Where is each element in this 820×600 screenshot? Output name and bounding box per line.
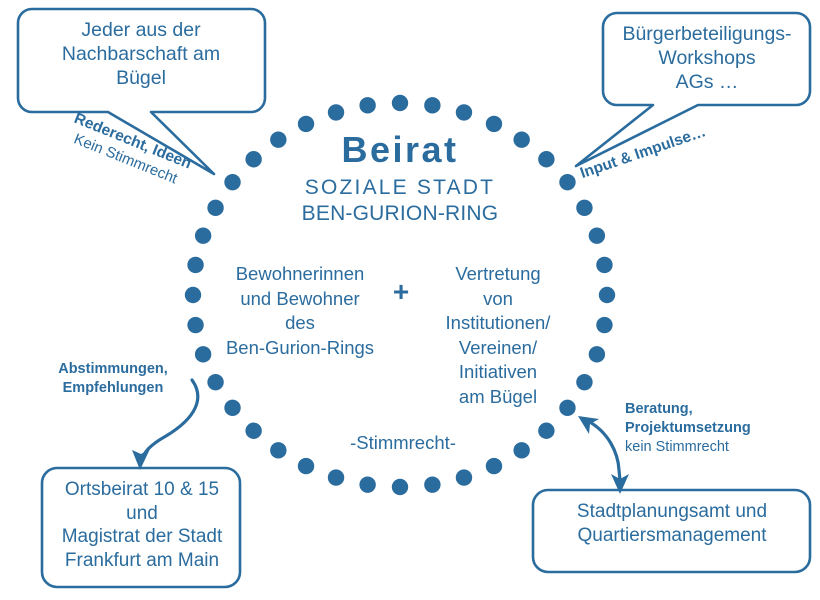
box-bottom-right-text: Stadtplanungsamt und Quartiersmanagement xyxy=(538,500,806,547)
arrow-label-beratung-line1: Beratung, xyxy=(625,400,795,419)
diagram-canvas: Jeder aus der Nachbarschaft am Bügel Red… xyxy=(0,0,820,600)
ring-dot xyxy=(270,442,286,458)
ring-dot xyxy=(486,458,502,474)
ring-dot xyxy=(224,174,240,190)
ring-dot xyxy=(187,257,203,273)
ring-dot xyxy=(392,95,408,111)
ring-dot xyxy=(559,174,575,190)
ring-dot xyxy=(224,400,240,416)
ring-dot xyxy=(187,317,203,333)
ring-dot xyxy=(599,287,615,303)
ring-column-left: Bewohnerinnen und Bewohner des Ben-Gurio… xyxy=(210,262,390,360)
ring-footer-stimmrecht: -Stimmrecht- xyxy=(320,432,486,455)
ring-dot xyxy=(328,104,344,120)
ring-dot xyxy=(513,442,529,458)
ring-dot xyxy=(195,346,211,362)
bubble-top-right-text: Bürgerbeteiligungs- Workshops AGs … xyxy=(606,22,808,95)
ring-dot xyxy=(298,458,314,474)
ring-column-right: Vertretung von Institutionen/ Vereinen/ … xyxy=(418,262,578,410)
ring-dot xyxy=(596,317,612,333)
arrow-label-beratung-line2: Projektumsetzung xyxy=(625,419,795,438)
ring-subtitle-line-1: SOZIALE STADT xyxy=(250,175,550,201)
arrow-ring-to-stadtplanungsamt xyxy=(588,421,620,486)
ring-dot xyxy=(392,479,408,495)
arrow-label-beratung-line3: kein Stimmrecht xyxy=(625,438,795,457)
ring-dot xyxy=(576,200,592,216)
ring-title: Beirat xyxy=(250,128,550,173)
ring-dot xyxy=(576,374,592,390)
plus-icon: + xyxy=(386,278,416,306)
ring-dot xyxy=(456,104,472,120)
ring-dot xyxy=(596,257,612,273)
box-bottom-left-text: Ortsbeirat 10 & 15 und Magistrat der Sta… xyxy=(46,478,238,572)
ring-dot xyxy=(207,374,223,390)
bubble-top-left-text: Jeder aus der Nachbarschaft am Bügel xyxy=(24,18,258,91)
ring-dot xyxy=(245,423,261,439)
ring-dot xyxy=(456,469,472,485)
ring-dot xyxy=(589,227,605,243)
arrow-label-abstimmungen: Abstimmungen, Empfehlungen xyxy=(38,360,188,398)
ring-dot xyxy=(424,97,440,113)
ring-dot xyxy=(589,346,605,362)
ring-dot xyxy=(424,476,440,492)
ring-dot xyxy=(359,476,375,492)
ring-dot xyxy=(359,97,375,113)
ring-dot xyxy=(207,200,223,216)
ring-dot xyxy=(328,469,344,485)
ring-dot xyxy=(195,227,211,243)
ring-subtitle-line-2: BEN-GURION-RING xyxy=(250,201,550,227)
arrow-label-beratung: Beratung, Projektumsetzung kein Stimmrec… xyxy=(625,400,795,457)
ring-dot xyxy=(185,287,201,303)
ring-dot xyxy=(538,423,554,439)
